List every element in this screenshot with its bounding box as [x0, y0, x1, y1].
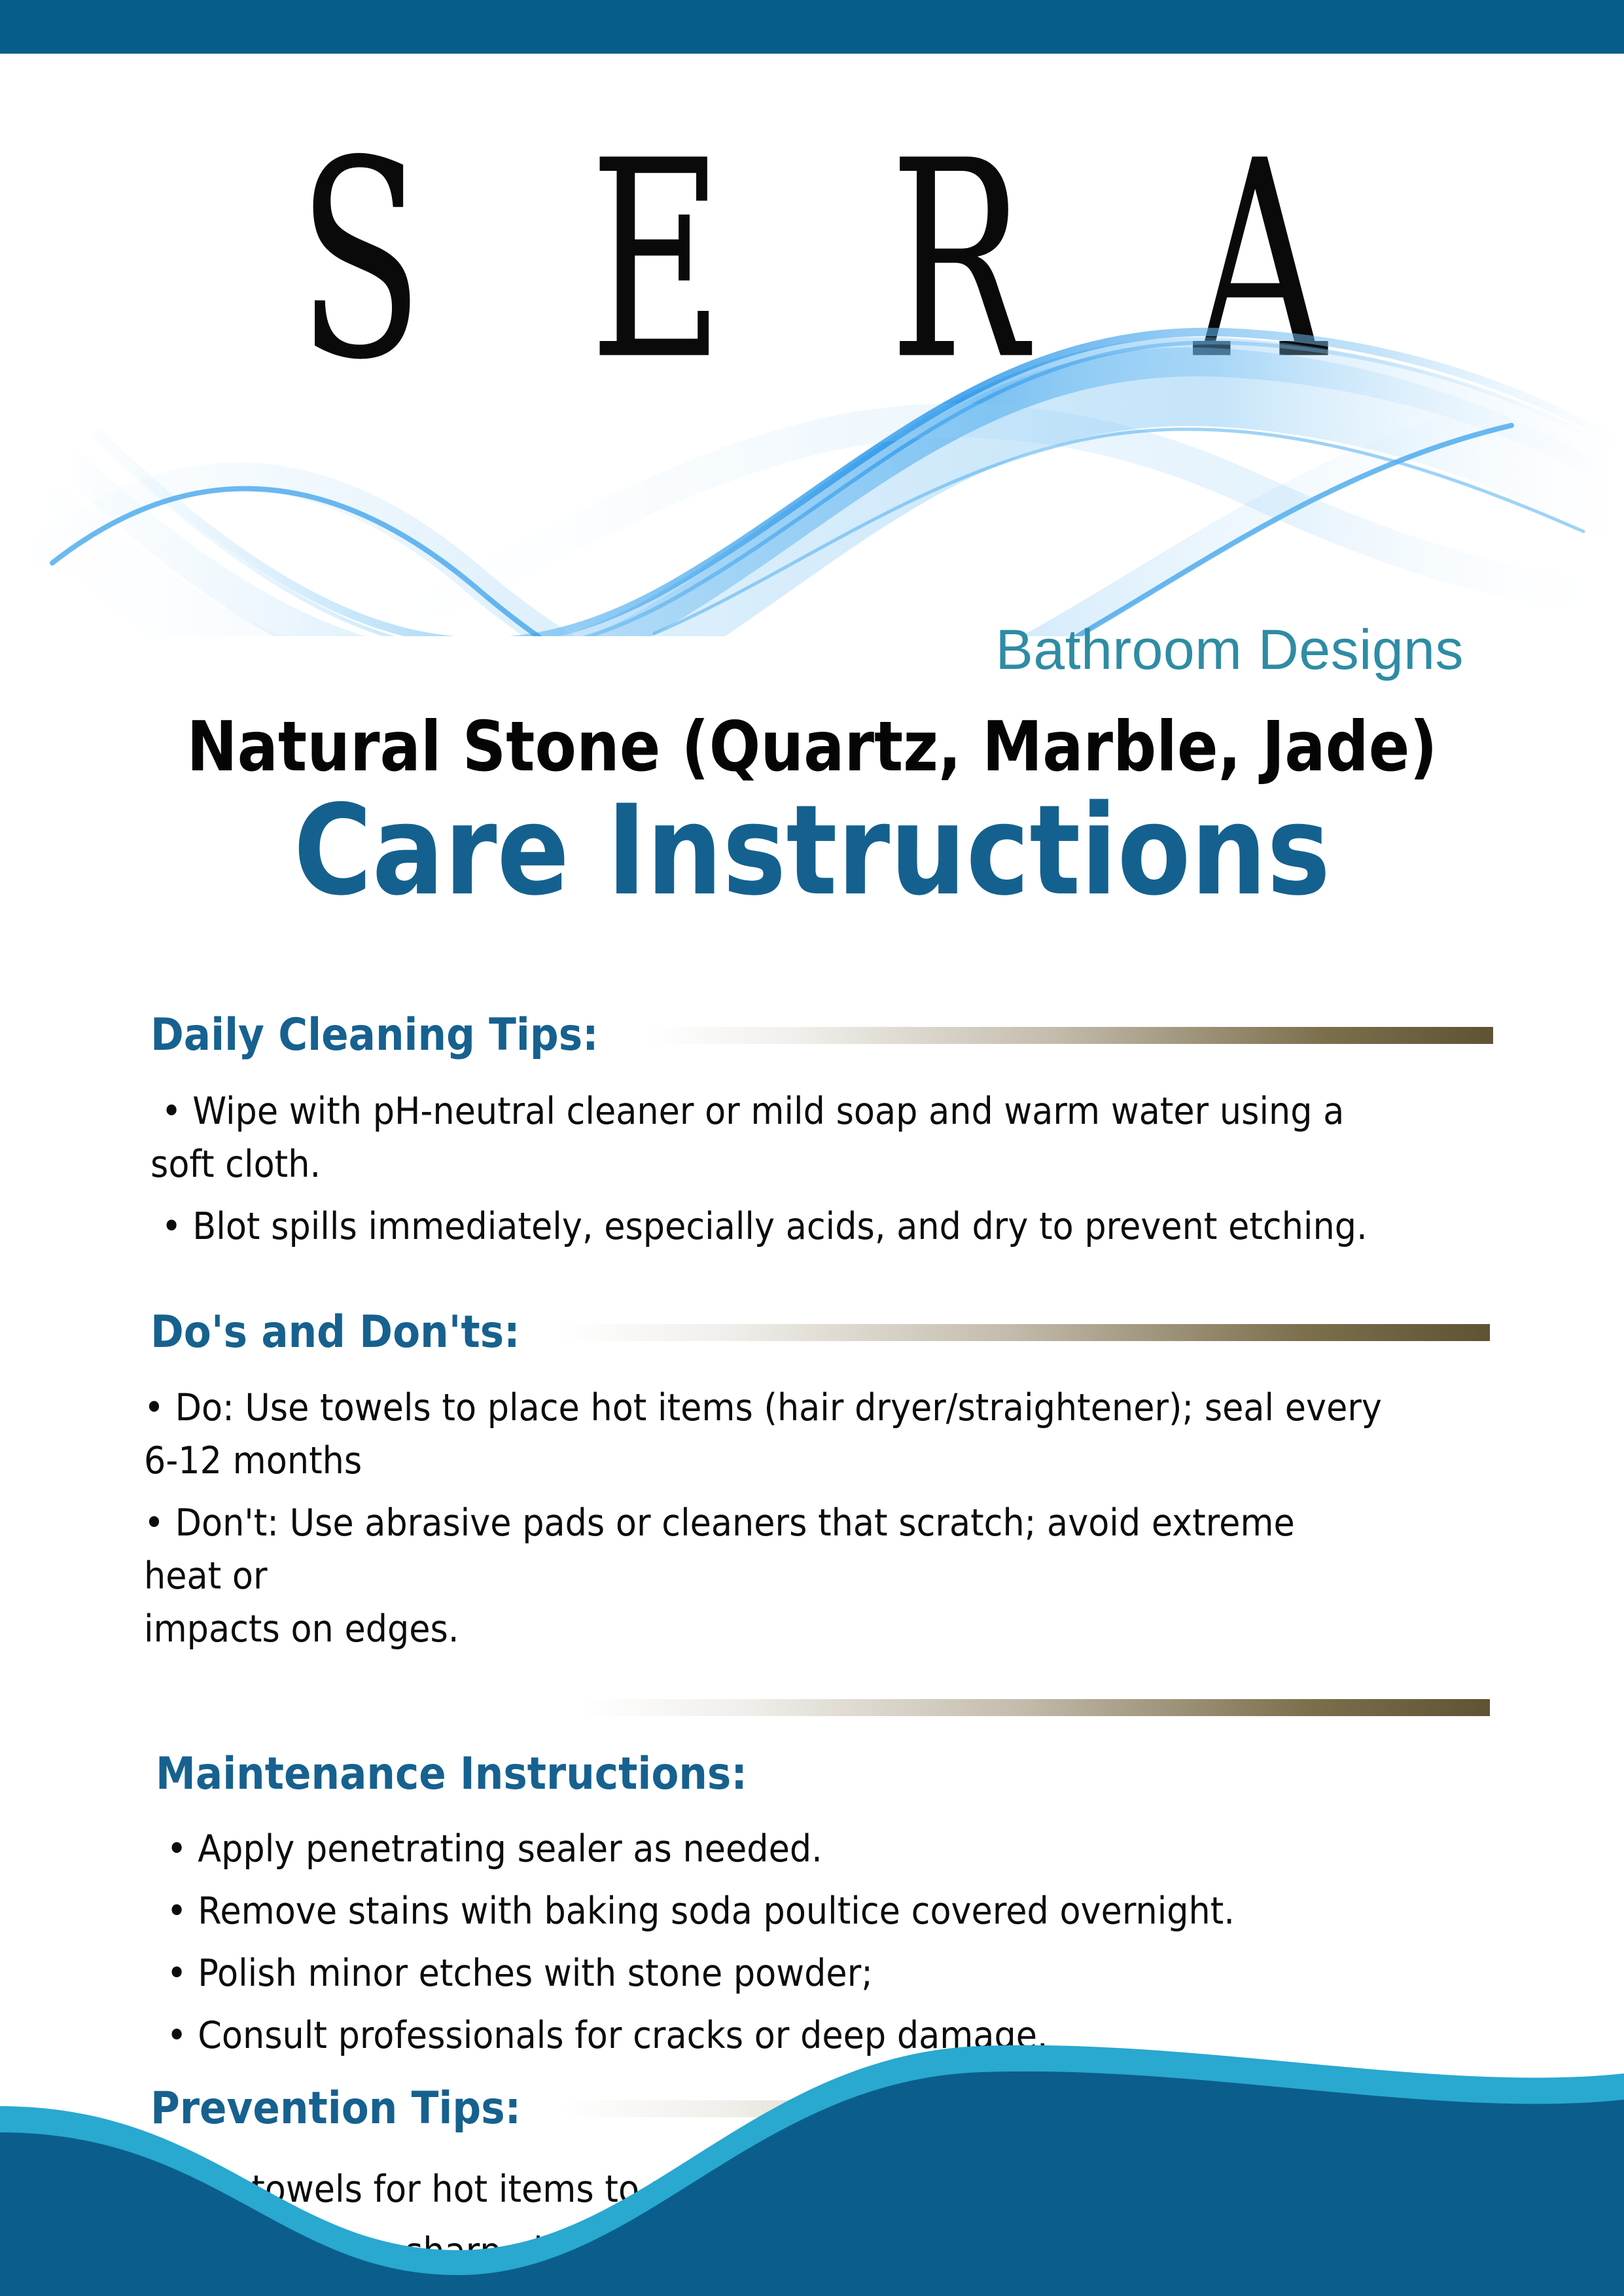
- section-divider-rule: [582, 1699, 1490, 1716]
- section-bullets: • Apply penetrating sealer as needed. • …: [156, 1823, 1490, 2062]
- document-subtitle: Natural Stone (Quartz, Marble, Jade): [97, 711, 1527, 783]
- list-item: • Don't: Use abrasive pads or cleaners t…: [144, 1497, 1382, 1656]
- section-maintenance-instructions: Maintenance Instructions: • Apply penetr…: [0, 1750, 1624, 2062]
- section-rule: [561, 1324, 1490, 1341]
- list-item: • Remove stains with baking soda poultic…: [156, 1885, 1383, 1938]
- flowing-wave-graphic: [0, 270, 1624, 636]
- list-item: • Apply penetrating sealer as needed.: [156, 1823, 1383, 1876]
- section-heading: Maintenance Instructions:: [156, 1750, 747, 1799]
- section-daily-cleaning-tips: Daily Cleaning Tips: • Wipe with pH-neut…: [0, 1011, 1624, 1253]
- section-header-row: Daily Cleaning Tips:: [150, 1011, 1493, 1060]
- list-item: • Wipe with pH-neutral cleaner or mild s…: [150, 1085, 1386, 1191]
- brand-header: S E R A: [0, 54, 1624, 702]
- section-rule: [648, 1027, 1493, 1044]
- section-heading: Daily Cleaning Tips:: [150, 1011, 599, 1060]
- section-dos-and-donts: Do's and Don'ts: • Do: Use towels to pla…: [0, 1308, 1624, 1656]
- section-heading: Do's and Don'ts:: [150, 1308, 520, 1357]
- footer-wave-graphic: [0, 2034, 1624, 2296]
- list-item: • Polish minor etches with stone powder;: [156, 1947, 1383, 2000]
- section-header-row: Do's and Don'ts:: [150, 1308, 1490, 1357]
- list-item: • Do: Use towels to place hot items (hai…: [144, 1382, 1382, 1488]
- care-instructions-flyer: S E R A: [0, 0, 1624, 2296]
- section-bullets: • Do: Use towels to place hot items (hai…: [144, 1382, 1490, 1656]
- section-bullets: • Wipe with pH-neutral cleaner or mild s…: [150, 1085, 1493, 1253]
- page-title: Care Instructions: [114, 785, 1511, 916]
- section-header-row: Maintenance Instructions:: [156, 1750, 1490, 1799]
- top-accent-bar: [0, 0, 1624, 54]
- list-item: • Blot spills immediately, especially ac…: [150, 1200, 1386, 1253]
- brand-tagline: Bathroom Designs: [996, 618, 1464, 683]
